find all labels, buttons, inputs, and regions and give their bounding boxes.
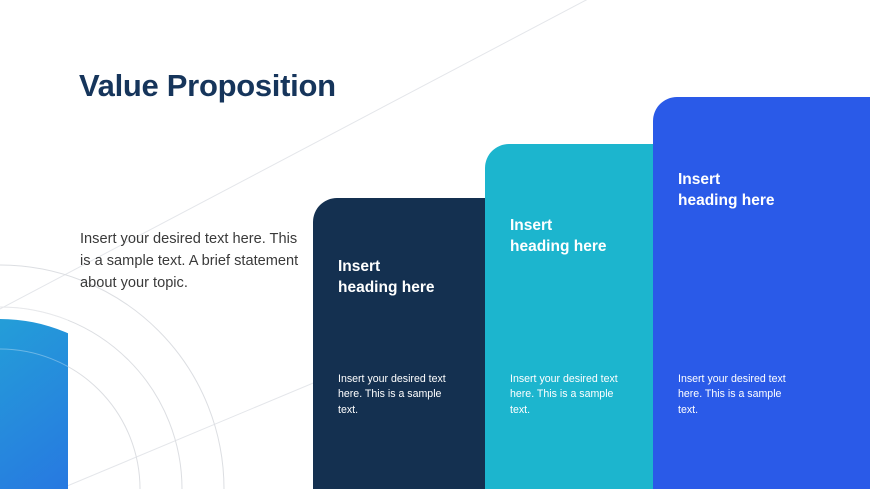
value-card-2[interactable]: Insert heading here Insert your desired … xyxy=(485,144,653,489)
value-card-3-body: Insert your desired text here. This is a… xyxy=(678,372,803,418)
value-card-3[interactable]: Insert heading here Insert your desired … xyxy=(653,97,870,489)
page-title: Value Proposition xyxy=(79,69,336,103)
value-card-3-heading-line1: Insert xyxy=(678,171,720,188)
value-card-2-heading-line2: heading here xyxy=(510,238,606,255)
value-card-2-heading-line1: Insert xyxy=(510,217,552,234)
value-card-3-heading-line2: heading here xyxy=(678,192,774,209)
value-card-2-body: Insert your desired text here. This is a… xyxy=(510,372,628,418)
value-card-2-heading: Insert heading here xyxy=(510,215,606,258)
intro-paragraph: Insert your desired text here. This is a… xyxy=(80,228,304,295)
gradient-quarter-circle xyxy=(0,307,182,489)
value-card-3-heading: Insert heading here xyxy=(678,169,774,212)
value-card-1-heading: Insert heading here xyxy=(338,256,434,299)
concentric-arcs xyxy=(0,265,224,489)
value-card-1-heading-line2: heading here xyxy=(338,279,434,296)
value-card-1-heading-line1: Insert xyxy=(338,258,380,275)
slide-canvas: Value Proposition Insert your desired te… xyxy=(0,0,870,489)
value-card-1[interactable]: SlideModel Insert heading here Insert yo… xyxy=(313,198,485,489)
value-card-1-body: Insert your desired text here. This is a… xyxy=(338,372,456,418)
